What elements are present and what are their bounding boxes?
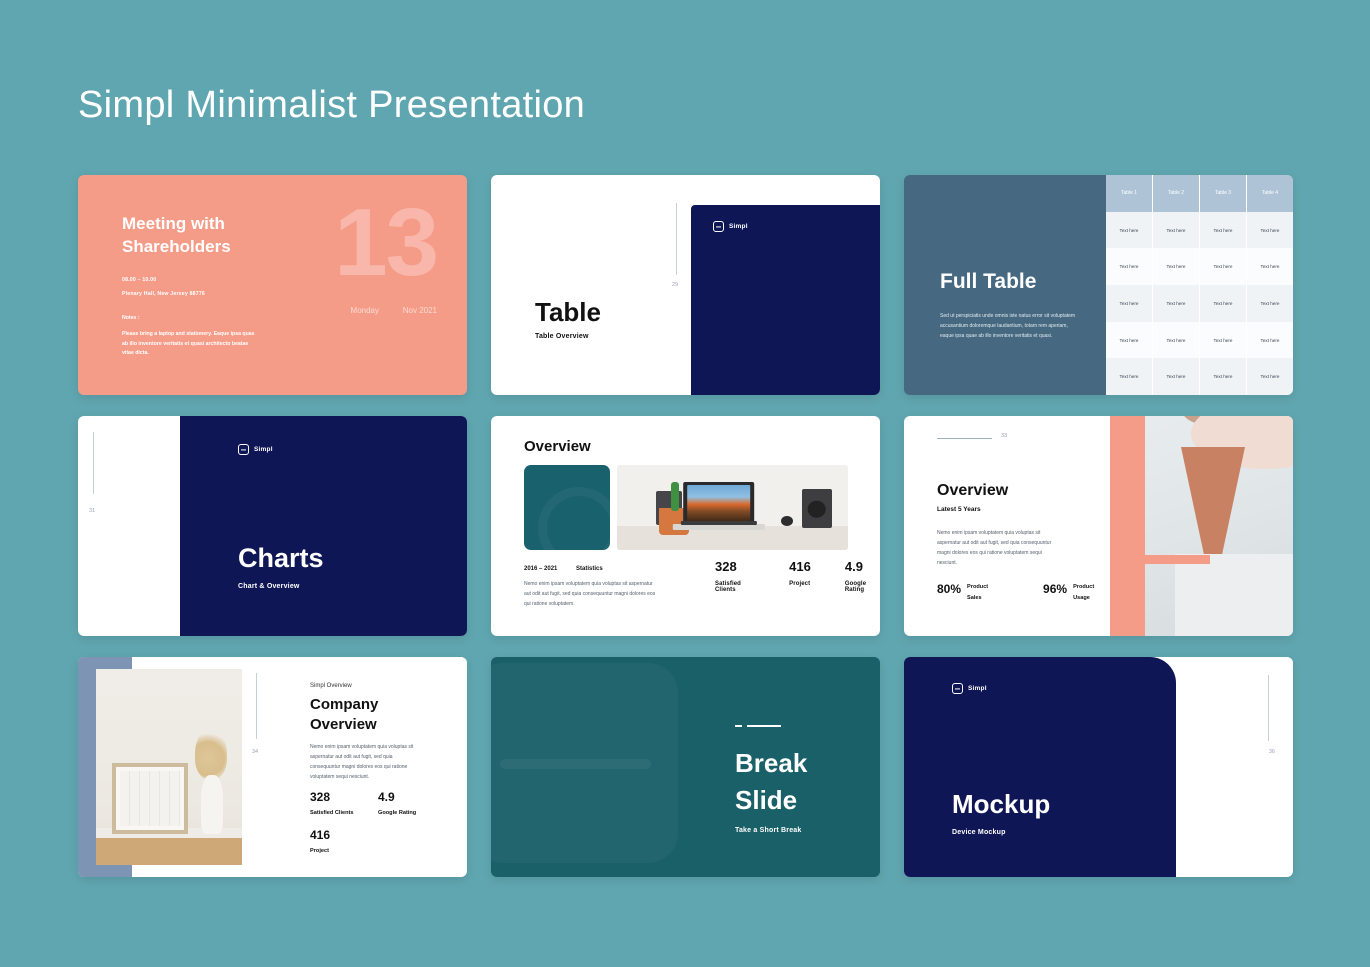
break-title: Break Slide [735,745,807,819]
table-cell: Text here [1247,358,1293,395]
full-table-title: Full Table [940,270,1036,294]
slide-grid: 13 Meeting with Shareholders 08.00 – 10.… [78,175,1293,877]
kpi-value: 328 [715,559,755,574]
charts-title: Charts [238,543,324,574]
photo-dried-flowers [195,728,227,779]
charts-navy-panel: Simpl [180,416,467,636]
decorative-dashes [735,725,781,727]
table-cell: Text here [1200,322,1247,359]
photo-laptop-screen [687,485,750,522]
meeting-notes-body: Please bring a laptop and stationery. Ea… [122,330,255,359]
photo-floor [96,838,242,865]
kpi-label: Satisfied Clients [715,581,755,593]
overview-kpi-group: 328 Satisfied Clients 416 Project 4.9 Go… [715,559,880,593]
kpi-spacer [378,828,430,854]
meeting-weekday: Monday [351,306,379,315]
data-table: Table 1 Table 2 Table 3 Table 4 Text her… [1106,175,1293,395]
desk-photo [617,465,848,550]
page-title: Simpl Minimalist Presentation [78,84,585,127]
kpi-item: 416 Project [789,559,811,593]
photo-keyboard [681,521,757,525]
table-row: Text here Text here Text here Text here [1106,212,1293,249]
table-cell: Text here [1247,212,1293,249]
kpi-label: Project [310,848,378,854]
slide-card-overview-stool[interactable]: 33 Overview Latest 5 Years Nemo enim ips… [904,416,1293,636]
divider-rule [256,673,257,739]
rounded-square-minus-icon [713,221,724,232]
kpi-label: Project [789,581,811,587]
kpi-value: 328 [310,790,378,804]
kpi-value: 416 [789,559,811,574]
slide-card-break[interactable]: Break Slide Take a Short Break [491,657,880,877]
overview-years: 2016 – 2021 [524,566,557,572]
table-cell: Text here [1200,285,1247,322]
overview-body: Nemo enim ipsam voluptatem quia voluptas… [524,580,660,609]
overview-title: Overview [524,438,591,455]
brand-logo: Simpl [713,221,748,232]
kpi-item: 96% Product Usage [1043,582,1107,603]
overlay-white-box [1175,554,1293,636]
photo-speaker-right [802,489,832,528]
kpi-value: 4.9 [845,559,880,574]
table-cell: Text here [1106,212,1153,249]
slide-card-overview-photo[interactable]: Overview 2016 – 2021 Statistics Nemo eni… [491,416,880,636]
dash-long [747,725,781,727]
full-table-body: Sed ut perspiciatis unde omnis iste natu… [940,311,1080,341]
mockup-title: Mockup [952,789,1050,820]
kpi-item: 328 Satisfied Clients [715,559,755,593]
kpi-item: 328 Satisfied Clients [310,790,378,816]
overview-body: Nemo enim ipsam voluptatem quia voluptas… [937,528,1052,568]
brand-logo-label: Simpl [254,446,273,453]
table-row: Text here Text here Text here Text here [1106,358,1293,395]
divider-rule [937,438,992,439]
mockup-subtitle: Device Mockup [952,829,1006,836]
company-body: Nemo enim ipsam voluptatem quia voluptas… [310,742,422,782]
table-cell: Text here [1200,358,1247,395]
brand-logo: Simpl [238,444,273,455]
photo-mouse [781,516,793,526]
meeting-day-number: 13 [334,195,437,291]
break-subtitle: Take a Short Break [735,827,802,834]
table-cell: Text here [1200,212,1247,249]
table-cell: Text here [1106,322,1153,359]
kpi-value: 416 [310,828,378,842]
table-cell: Text here [1153,285,1200,322]
table-cell: Text here [1247,322,1293,359]
kpi-item: 80% Product Sales [937,582,1001,603]
table-navy-panel: Simpl [691,205,880,395]
table-header-cell: Table 1 [1106,175,1153,212]
meeting-notes-label: Notes : [122,315,140,321]
meeting-time: 08.00 – 10.00 [122,277,156,283]
kpi-label: Product Sales [967,582,1001,603]
table-header-row: Table 1 Table 2 Table 3 Table 4 [1106,175,1293,212]
table-cell: Text here [1153,358,1200,395]
photo-picture-frame [112,763,188,834]
table-header-cell: Table 3 [1200,175,1247,212]
brand-logo-label: Simpl [729,223,748,230]
page-number: 33 [1001,433,1007,439]
page-number: 34 [252,749,258,755]
meeting-month-year: Nov 2021 [403,306,437,315]
kpi-label: Google Rating [378,810,430,816]
company-kpi-group: 328 Satisfied Clients 4.9 Google Rating … [310,790,430,854]
dash-short [735,725,742,727]
slide-card-table[interactable]: Simpl 29 Table Table Overview [491,175,880,395]
rounded-square-minus-icon [238,444,249,455]
photo-laptop [683,482,755,525]
rounded-square-minus-icon [952,683,963,694]
overview-subtitle: Latest 5 Years [937,506,981,513]
table-cell: Text here [1200,248,1247,285]
overview-stats-label: Statistics [576,566,603,572]
brand-logo: Simpl [952,683,987,694]
meeting-location: Plenary Hall, New Jersey 88776 [122,291,205,297]
table-cell: Text here [1106,358,1153,395]
kpi-value: 80% [937,582,961,596]
table-header-cell: Table 2 [1153,175,1200,212]
slide-card-company-overview[interactable]: 34 Simpl Overview Company Overview Nemo … [78,657,467,877]
table-cell: Text here [1247,248,1293,285]
mockup-navy-panel: Simpl [904,657,1176,877]
table-row: Text here Text here Text here Text here [1106,248,1293,285]
divider-rule [93,432,94,494]
meeting-title: Meeting with Shareholders [122,213,231,259]
table-row: Text here Text here Text here Text here [1106,285,1293,322]
interior-photo [96,669,242,865]
divider-rule [676,203,677,275]
kpi-value: 4.9 [378,790,430,804]
table-header-cell: Table 4 [1247,175,1293,212]
overview-title: Overview [937,482,1008,500]
table-cell: Text here [1106,248,1153,285]
salmon-horizontal-bar [1110,555,1210,564]
kpi-item: 4.9 Google Rating [845,559,880,593]
table-cell: Text here [1153,212,1200,249]
photo-cactus [671,482,679,511]
charts-subtitle: Chart & Overview [238,583,300,590]
table-row: Text here Text here Text here Text here [1106,322,1293,359]
slide-card-meeting[interactable]: 13 Meeting with Shareholders 08.00 – 10.… [78,175,467,395]
kpi-label: Google Rating [845,581,880,593]
table-cell: Text here [1106,285,1153,322]
table-cell: Text here [1153,248,1200,285]
page-number: 31 [89,508,95,514]
table-cell: Text here [1247,285,1293,322]
overview-kpi-group: 80% Product Sales 96% Product Usage [937,582,1107,603]
kpi-label: Satisfied Clients [310,810,378,816]
slide-card-full-table[interactable]: Full Table Sed ut perspiciatis unde omni… [904,175,1293,395]
kpi-label: Product Usage [1073,582,1107,603]
kpi-item: 4.9 Google Rating [378,790,430,816]
kpi-item: 416 Project [310,828,378,854]
overview-teal-block [524,465,610,550]
slide-card-charts[interactable]: Simpl 31 Charts Chart & Overview [78,416,467,636]
kpi-value: 96% [1043,582,1067,596]
company-eyebrow: Simpl Overview [310,683,352,689]
table-title: Table [535,297,601,328]
table-cell: Text here [1153,322,1200,359]
watermark-logo-icon [491,663,678,863]
brand-logo-label: Simpl [968,685,987,692]
divider-rule [1268,675,1269,741]
page-number: 29 [672,282,678,288]
page-number: 36 [1269,749,1275,755]
salmon-vertical-bar [1110,416,1145,636]
table-subtitle: Table Overview [535,333,589,340]
photo-vase [201,775,223,834]
company-title: Company Overview [310,695,378,734]
slide-card-mockup[interactable]: Simpl Mockup Device Mockup 36 [904,657,1293,877]
